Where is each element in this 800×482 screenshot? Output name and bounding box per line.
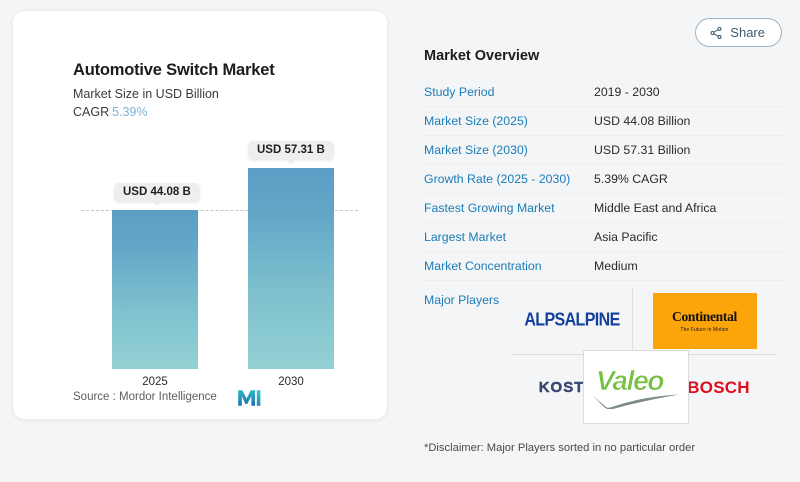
continental-logo-icon: Continental The Future in Motion (653, 293, 757, 349)
x-axis-tick-2025: 2025 (112, 376, 198, 388)
table-row: Growth Rate (2025 - 2030) 5.39% CAGR (424, 165, 788, 194)
share-button[interactable]: Share (695, 18, 782, 47)
row-value: 2019 - 2030 (594, 78, 788, 107)
chart-title: Automotive Switch Market (73, 61, 274, 80)
major-players-label: Major Players (424, 293, 499, 307)
x-axis-tick-2030: 2030 (248, 376, 334, 388)
table-row: Fastest Growing Market Middle East and A… (424, 194, 788, 223)
alpsalpine-logo-icon: ALPSALPINE (524, 311, 619, 332)
bar-value-label-2030: USD 57.31 B (248, 141, 334, 160)
source-text: Source : Mordor Intelligence (73, 391, 217, 403)
bar-2025[interactable] (112, 210, 198, 369)
table-row: Study Period 2019 - 2030 (424, 78, 788, 107)
row-key: Study Period (424, 78, 594, 107)
market-overview-page: Automotive Switch Market Market Size in … (0, 0, 800, 482)
share-button-label: Share (730, 25, 765, 40)
mordor-intelligence-logo-icon (237, 389, 261, 407)
row-key: Market Concentration (424, 252, 594, 281)
cagr-label: CAGR (73, 105, 109, 119)
market-overview-title: Market Overview (424, 48, 788, 64)
row-value: 5.39% CAGR (594, 165, 788, 194)
market-overview-table: Study Period 2019 - 2030 Market Size (20… (424, 78, 788, 281)
row-key: Fastest Growing Market (424, 194, 594, 223)
player-logo-continental: Continental The Future in Motion (633, 288, 776, 354)
row-value: USD 57.31 Billion (594, 136, 788, 165)
cagr-value: 5.39% (112, 105, 147, 119)
row-key: Market Size (2030) (424, 136, 594, 165)
row-key: Growth Rate (2025 - 2030) (424, 165, 594, 194)
row-value: Middle East and Africa (594, 194, 788, 223)
valeo-logo-icon: Valeo (590, 363, 682, 411)
chart-subtitle: Market Size in USD Billion (73, 87, 219, 101)
table-row: Market Concentration Medium (424, 252, 788, 281)
row-key: Market Size (2025) (424, 107, 594, 136)
share-icon (709, 26, 723, 40)
table-row: Market Size (2030) USD 57.31 Billion (424, 136, 788, 165)
bar-value-label-2025: USD 44.08 B (114, 183, 200, 202)
disclaimer-text: *Disclaimer: Major Players sorted in no … (424, 442, 695, 454)
bar-2030[interactable] (248, 168, 334, 369)
chart-card: Automotive Switch Market Market Size in … (12, 10, 388, 420)
row-key: Largest Market (424, 223, 594, 252)
market-overview-panel: Market Overview Study Period 2019 - 2030… (424, 48, 788, 281)
player-logo-alpsalpine: ALPSALPINE (512, 288, 632, 354)
chart-cagr: CAGR5.39% (73, 105, 148, 119)
row-value: Asia Pacific (594, 223, 788, 252)
table-row: Market Size (2025) USD 44.08 Billion (424, 107, 788, 136)
continental-tagline: The Future in Motion (680, 327, 728, 333)
row-value: Medium (594, 252, 788, 281)
table-row: Largest Market Asia Pacific (424, 223, 788, 252)
player-logo-valeo: Valeo (583, 350, 689, 424)
row-value: USD 44.08 Billion (594, 107, 788, 136)
continental-wordmark: Continental (672, 309, 737, 325)
bosch-wordmark: BOSCH (687, 378, 749, 398)
valeo-swoosh-icon (592, 393, 680, 409)
bar-chart-plot: USD 44.08 B USD 57.31 B 2025 2030 (26, 131, 376, 386)
